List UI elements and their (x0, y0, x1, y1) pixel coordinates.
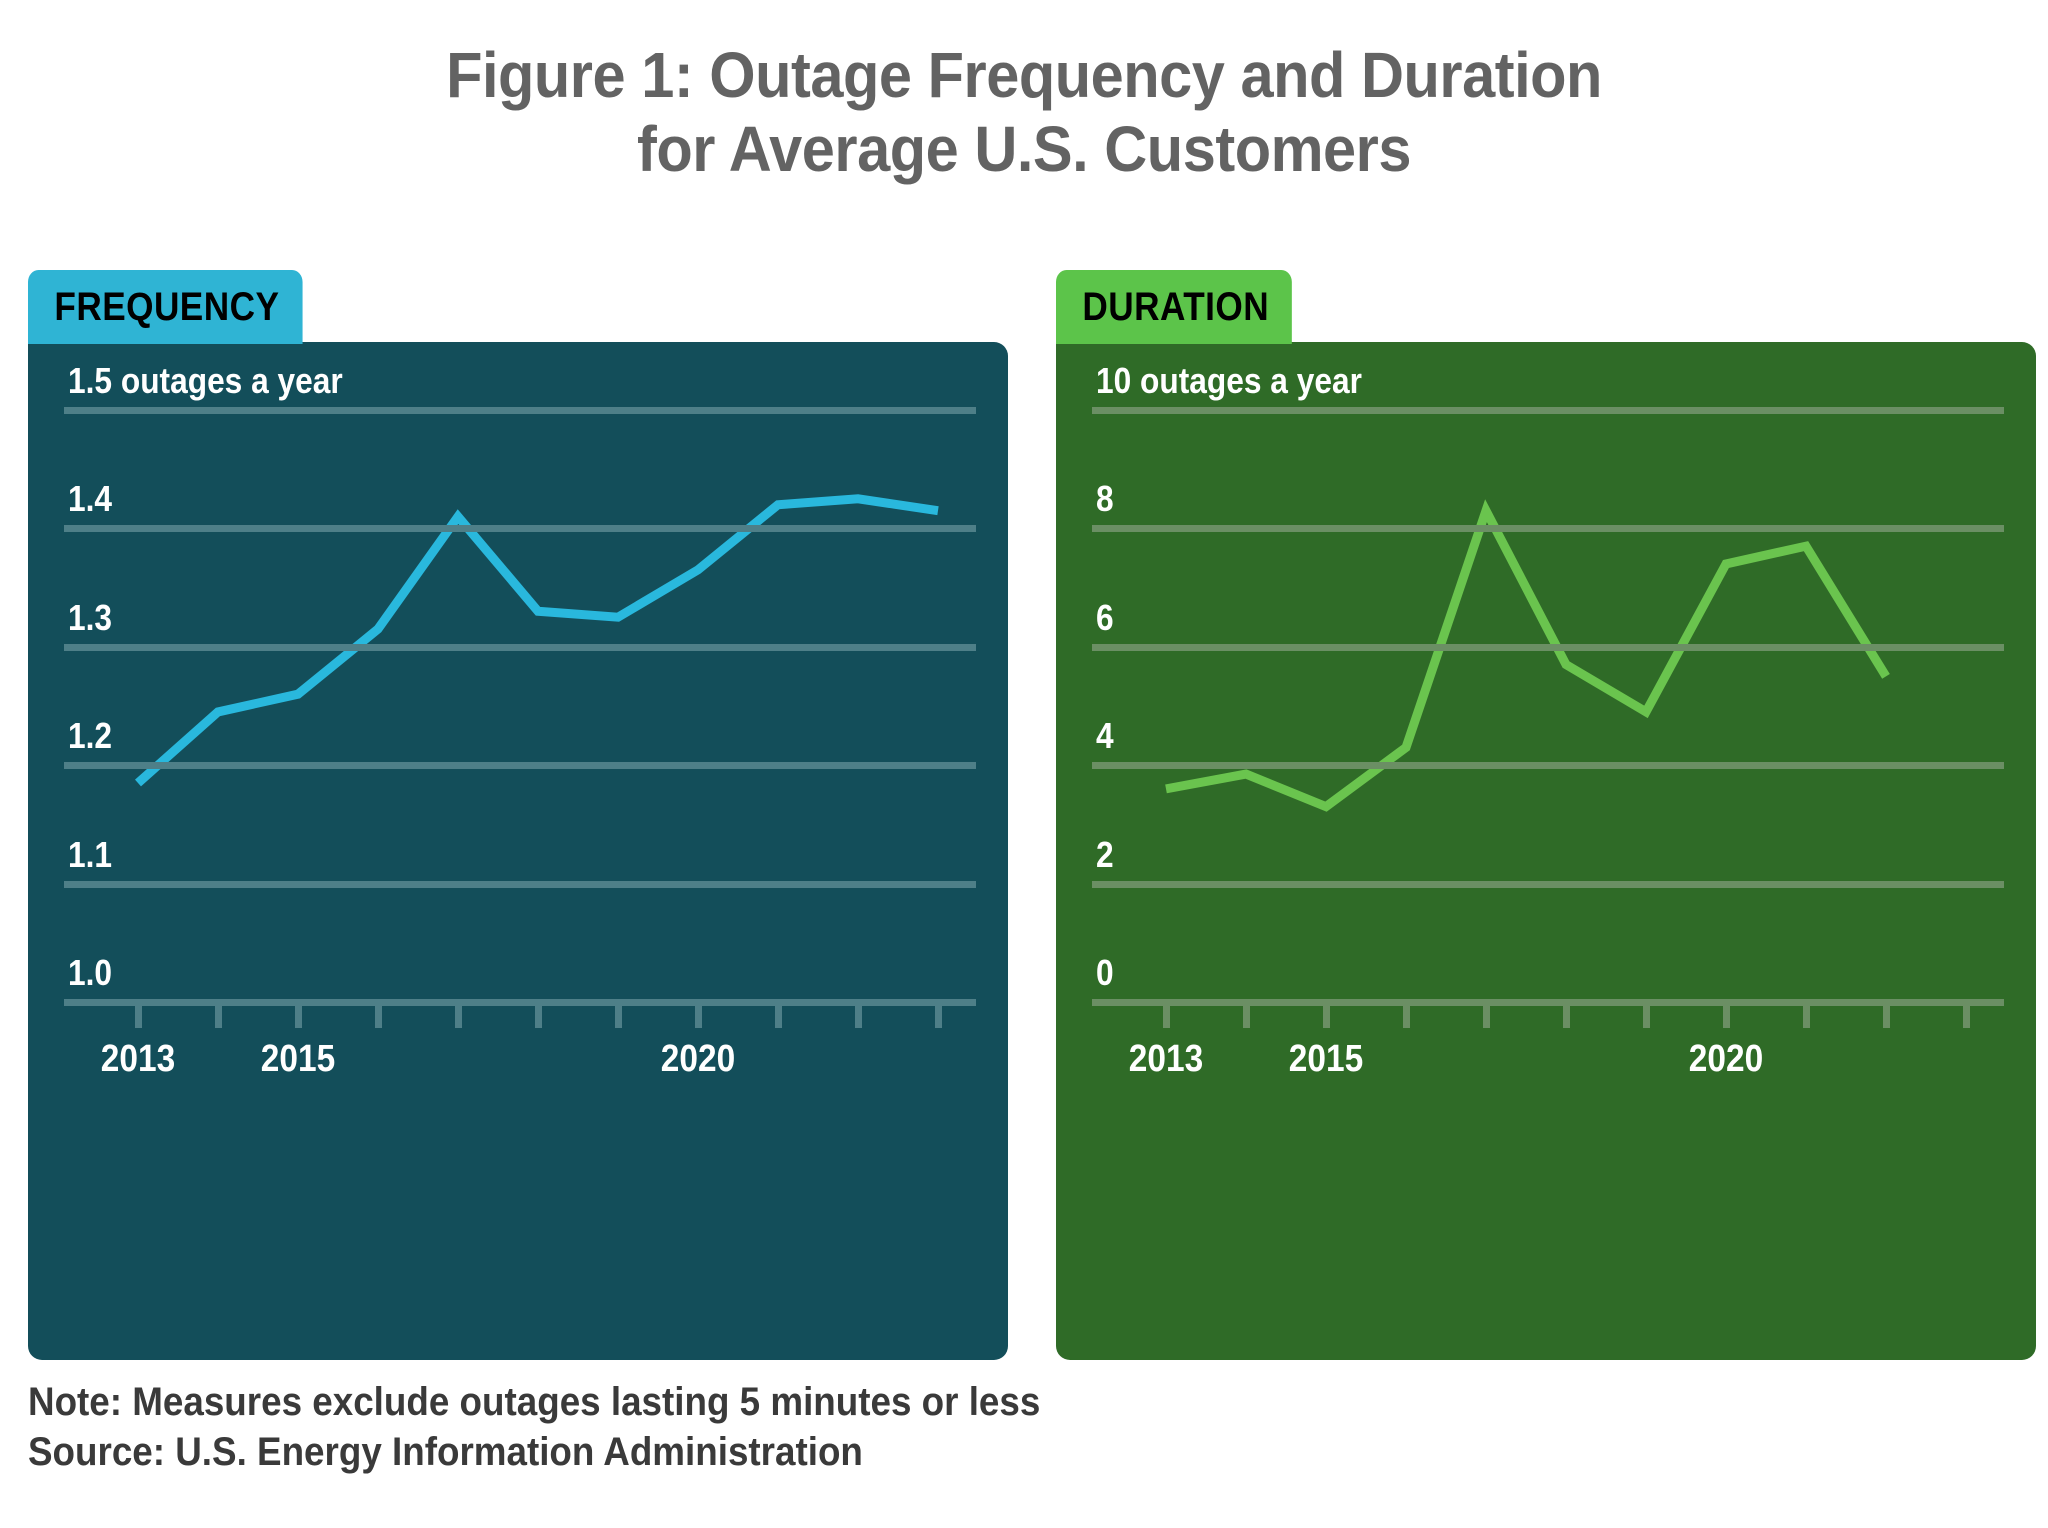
x-axis-tick (375, 1006, 382, 1028)
x-axis-tick-label: 2020 (1689, 1038, 1763, 1081)
y-axis-tick-label: 1.1 (68, 834, 112, 876)
gridline (64, 525, 976, 532)
y-axis-tick-label: 0 (1096, 952, 1114, 994)
x-axis-tick (1643, 1006, 1650, 1028)
x-axis-tick (1723, 1006, 1730, 1028)
y-axis-tick-label: 6 (1096, 597, 1114, 639)
x-axis-tick (1483, 1006, 1490, 1028)
gridline (1092, 881, 2004, 888)
x-axis-tick (455, 1006, 462, 1028)
y-axis-tick-label: 1.2 (68, 715, 112, 757)
y-axis-tick-label: 8 (1096, 478, 1114, 520)
x-axis-tick (855, 1006, 862, 1028)
x-axis-tick (1803, 1006, 1810, 1028)
y-axis-tick-label: 1.4 (68, 478, 112, 520)
source-line: Source: U.S. Energy Information Administ… (28, 1428, 1040, 1478)
gridline (1092, 762, 2004, 769)
y-axis-tick-label: 1.5 outages a year (68, 360, 343, 402)
series-line (138, 499, 938, 783)
duration-plot: 10 outages a year86420201320152020 (1056, 342, 2036, 1360)
x-axis-tick (695, 1006, 702, 1028)
x-axis-tick (615, 1006, 622, 1028)
gridline (1092, 407, 2004, 414)
x-axis-tick-label: 2015 (1289, 1038, 1363, 1081)
gridline (64, 762, 976, 769)
x-axis-tick (135, 1006, 142, 1028)
duration-line-series (1056, 342, 2036, 1360)
x-axis-tick-label: 2015 (261, 1038, 335, 1081)
x-axis-tick-label: 2013 (101, 1038, 175, 1081)
x-axis-tick (935, 1006, 942, 1028)
y-axis-tick-label: 1.3 (68, 597, 112, 639)
frequency-badge: FREQUENCY (28, 270, 302, 344)
y-axis-tick-label: 2 (1096, 834, 1114, 876)
frequency-chart-panel: FREQUENCY 1.5 outages a year1.41.31.21.1… (28, 270, 1008, 1360)
x-axis-tick (295, 1006, 302, 1028)
page-title-line-1: Figure 1: Outage Frequency and Duration (72, 38, 1977, 112)
y-axis-tick-label: 10 outages a year (1096, 360, 1362, 402)
x-axis-line (64, 999, 976, 1006)
frequency-plot: 1.5 outages a year1.41.31.21.11.02013201… (28, 342, 1008, 1360)
y-axis-tick-label: 4 (1096, 715, 1114, 757)
footnotes: Note: Measures exclude outages lasting 5… (28, 1378, 1128, 1477)
duration-plot-area: 10 outages a year86420201320152020 (1056, 342, 2036, 1360)
frequency-line-series (28, 342, 1008, 1360)
x-axis-tick (215, 1006, 222, 1028)
frequency-plot-area: 1.5 outages a year1.41.31.21.11.02013201… (28, 342, 1008, 1360)
x-axis-tick (775, 1006, 782, 1028)
page-title-line-2: for Average U.S. Customers (72, 112, 1977, 186)
x-axis-tick (1323, 1006, 1330, 1028)
x-axis-line (1092, 999, 2004, 1006)
gridline (64, 407, 976, 414)
duration-chart-panel: DURATION 10 outages a year86420201320152… (1056, 270, 2036, 1360)
note-line: Note: Measures exclude outages lasting 5… (28, 1378, 1040, 1428)
x-axis-tick (1563, 1006, 1570, 1028)
x-axis-tick-label: 2013 (1129, 1038, 1203, 1081)
x-axis-tick-label: 2020 (661, 1038, 735, 1081)
page-title: Figure 1: Outage Frequency and Duration … (72, 38, 1977, 186)
duration-badge: DURATION (1056, 270, 1292, 344)
gridline (64, 881, 976, 888)
x-axis-tick (1163, 1006, 1170, 1028)
x-axis-tick (1243, 1006, 1250, 1028)
y-axis-tick-label: 1.0 (68, 952, 112, 994)
x-axis-tick (1883, 1006, 1890, 1028)
gridline (1092, 525, 2004, 532)
gridline (1092, 644, 2004, 651)
x-axis-tick (1403, 1006, 1410, 1028)
gridline (64, 644, 976, 651)
x-axis-tick (1963, 1006, 1970, 1028)
x-axis-tick (535, 1006, 542, 1028)
figure-page: Figure 1: Outage Frequency and Duration … (0, 0, 2048, 1528)
charts-container: FREQUENCY 1.5 outages a year1.41.31.21.1… (0, 270, 2048, 1370)
